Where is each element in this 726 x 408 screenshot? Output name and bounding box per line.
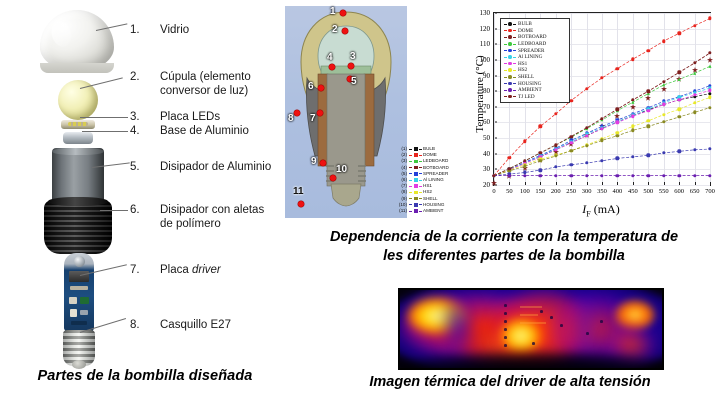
chart-data-marker <box>708 96 711 99</box>
part-label-8: Casquillo E27 <box>160 318 231 332</box>
chart-legend-row: TJ LED <box>504 94 566 101</box>
chart-x-tick-label: 700 <box>705 188 715 195</box>
part-number-6: 6. <box>130 203 152 217</box>
chart-legend-marker-icon <box>504 61 516 67</box>
chart-y-tick-label: 80 <box>483 87 490 95</box>
chart-legend-label: SHELL <box>518 74 534 80</box>
chart-legend-label: HS1 <box>518 61 527 67</box>
chart-legend: BULBDOMEBOTBOARDLEDBOARDSPREADERAl LININ… <box>500 18 570 103</box>
chart-legend-row: HS2 <box>504 67 566 74</box>
chart-y-tick-label: 50 <box>483 134 490 142</box>
chart-y-tick-label: 20 <box>483 181 490 189</box>
chart-legend-row: AMBIENT <box>504 87 566 94</box>
measurement-point-label-4: 4 <box>327 52 333 63</box>
measurement-point-label-7: 7 <box>310 113 316 124</box>
leader-line-6 <box>100 210 128 211</box>
cross-section-legend-label: AMBIENT <box>423 208 443 214</box>
part-label-7: Placa driver <box>160 263 221 277</box>
measurement-point-label-8: 8 <box>288 113 294 124</box>
chart-x-tick-label: 650 <box>690 188 700 195</box>
measurement-point-label-3: 3 <box>350 51 356 62</box>
measurement-point-label-2: 2 <box>332 24 338 35</box>
chart-gridline-h <box>494 185 710 186</box>
chart-x-tick-mark <box>710 182 711 185</box>
chart-plot-area: BULBDOMEBOTBOARDLEDBOARDSPREADERAl LININ… <box>493 12 711 186</box>
measurement-point-9 <box>320 160 326 166</box>
chart-x-tick-label: 0 <box>492 188 495 195</box>
part-number-4: 4. <box>130 124 152 138</box>
chart-legend-label: BULB <box>518 21 532 27</box>
part-label-4: Base de Aluminio <box>160 124 249 138</box>
chart-y-tick-label: 30 <box>483 165 490 173</box>
chart-y-tick-label: 40 <box>483 150 490 158</box>
chart-y-tick-label: 120 <box>480 25 491 33</box>
part-label-6: Disipador con aletas <box>160 203 264 217</box>
chart-legend-marker-icon <box>504 41 516 47</box>
exploded-bulb-panel: 1. Vidrio 2. Cúpula (elemento conversor … <box>0 0 282 358</box>
part-number-2: 2. <box>130 70 152 84</box>
measurement-point-11 <box>298 201 304 207</box>
measurement-point-label-11: 11 <box>293 186 304 197</box>
chart-legend-marker-icon <box>504 67 516 73</box>
part-label-2-line2: conversor de luz) <box>160 84 248 98</box>
chart-x-tick-label: 600 <box>674 188 684 195</box>
measurement-point-7 <box>317 110 323 116</box>
chart-x-tick-label: 550 <box>659 188 669 195</box>
chart-data-marker <box>708 106 711 109</box>
measurement-point-8 <box>294 110 300 116</box>
chart-x-tick-label: 200 <box>551 188 561 195</box>
chart-legend-marker-icon <box>504 74 516 80</box>
part-aluminium-base <box>63 132 93 144</box>
middle-caption-line2: les diferentes partes de la bombilla <box>282 247 726 266</box>
part-glass-rim <box>40 63 114 73</box>
chart-legend-marker-icon <box>504 87 516 93</box>
cross-section-legend-marker-icon <box>409 147 422 152</box>
chart-y-tick-label: 60 <box>483 118 490 126</box>
part-led-board <box>61 120 95 129</box>
chart-y-tick-label: 130 <box>480 9 491 17</box>
chart-legend-marker-icon <box>504 94 516 100</box>
bulb-cross-section-panel: 1 2 3 4 5 6 7 8 9 10 11 <box>285 6 407 218</box>
bulb-parts-illustration <box>18 8 138 348</box>
left-caption: Partes de la bombilla diseñada <box>10 368 280 384</box>
part-label-2: Cúpula (elemento <box>160 70 251 84</box>
cross-section-legend-index: (11) <box>392 208 408 214</box>
temperature-current-chart: Temperature (°C) IF (mA) BULBDOMEBOTBOAR… <box>461 4 723 222</box>
cross-section-legend-marker-icon <box>409 202 422 207</box>
chart-x-axis-label: IF (mA) <box>521 202 681 218</box>
chart-legend-row: HS1 <box>504 61 566 68</box>
chart-x-tick-label: 300 <box>582 188 592 195</box>
chart-y-tick-label: 100 <box>480 56 491 64</box>
part-number-1: 1. <box>130 23 152 37</box>
chart-legend-marker-icon <box>504 21 516 27</box>
chart-legend-label: DOME <box>518 28 533 34</box>
chart-legend-row: BULB <box>504 21 566 28</box>
chart-x-tick-label: 50 <box>506 188 513 195</box>
chart-x-tick-label: 450 <box>628 188 638 195</box>
chart-legend-row: SPREADER <box>504 47 566 54</box>
leader-line-4 <box>82 131 128 132</box>
thermal-image <box>400 290 662 368</box>
middle-caption-line1: Dependencia de la corriente con la tempe… <box>282 228 726 247</box>
chart-legend-marker-icon <box>504 34 516 40</box>
part-number-8: 8. <box>130 318 152 332</box>
chart-legend-marker-icon <box>504 48 516 54</box>
measurement-point-10 <box>330 175 336 181</box>
chart-data-marker <box>708 89 711 92</box>
chart-legend-marker-icon <box>504 54 516 60</box>
chart-y-tick-label: 70 <box>483 103 490 111</box>
cross-section-legend-marker-icon <box>409 190 422 195</box>
measurement-point-label-1: 1 <box>330 6 336 17</box>
cross-section-legend-marker-icon <box>409 184 422 189</box>
chart-legend-marker-icon <box>504 81 516 87</box>
measurement-point-label-6: 6 <box>308 81 314 92</box>
measurement-point-label-9: 9 <box>311 156 317 167</box>
chart-legend-row: BOTBOARD <box>504 34 566 41</box>
cross-section-legend-row: (11)AMBIENT <box>392 208 464 214</box>
chart-legend-label: BOTBOARD <box>518 34 547 40</box>
chart-data-marker <box>708 92 711 95</box>
chart-legend-label: Al LINING <box>518 54 542 60</box>
chart-legend-label: SPREADER <box>518 48 545 54</box>
cross-section-legend-marker-icon <box>409 159 422 164</box>
chart-x-axis-unit: (mA) <box>591 202 620 216</box>
thermal-caption: Imagen térmica del driver de alta tensió… <box>300 374 720 390</box>
chart-legend-label: HS2 <box>518 67 527 73</box>
chart-legend-label: HOUSING <box>518 81 541 87</box>
cross-section-legend: (1)BULB(2)DOME(3)LEDBOARD(4)BOTBOARD(5)S… <box>392 146 464 216</box>
middle-caption: Dependencia de la corriente con la tempe… <box>282 228 726 266</box>
chart-data-marker <box>708 174 711 177</box>
measurement-point-label-10: 10 <box>336 164 347 175</box>
cross-section-legend-marker-icon <box>409 196 422 201</box>
cross-section-legend-marker-icon <box>409 153 422 158</box>
chart-x-tick-label: 100 <box>520 188 530 195</box>
cross-section-legend-marker-icon <box>409 178 422 183</box>
cross-section-legend-marker-icon <box>409 209 422 214</box>
cross-section-legend-marker-icon <box>409 165 422 170</box>
measurement-point-4 <box>329 64 335 70</box>
chart-x-tick-label: 350 <box>597 188 607 195</box>
measurement-point-1 <box>340 10 346 16</box>
part-driver-board <box>64 253 94 331</box>
part-label-7-italic: driver <box>192 264 221 276</box>
cross-section-legend-marker-icon <box>409 171 422 176</box>
chart-x-tick-label: 400 <box>613 188 623 195</box>
chart-legend-label: LEDBOARD <box>518 41 546 47</box>
measurement-point-6 <box>318 85 324 91</box>
chart-legend-row: Al LINING <box>504 54 566 61</box>
chart-legend-label: TJ LED <box>518 94 535 100</box>
chart-legend-row: HOUSING <box>504 80 566 87</box>
measurement-point-label-5: 5 <box>351 76 357 87</box>
part-aluminium-heatsink <box>52 148 104 202</box>
part-number-5: 5. <box>130 160 152 174</box>
part-number-7: 7. <box>130 263 152 277</box>
chart-gridline-v <box>710 13 711 185</box>
measurement-point-3 <box>348 63 354 69</box>
chart-legend-row: LEDBOARD <box>504 41 566 48</box>
part-label-7-text: Placa <box>160 264 192 276</box>
part-polymer-finned-heatsink <box>44 200 112 254</box>
chart-x-tick-label: 150 <box>535 188 545 195</box>
chart-legend-row: SHELL <box>504 74 566 81</box>
thermal-image-frame <box>398 288 664 370</box>
part-label-5: Disipador de Aluminio <box>160 160 271 174</box>
leader-line-3 <box>80 117 128 118</box>
chart-legend-label: AMBIENT <box>518 87 542 93</box>
chart-x-tick-label: 500 <box>643 188 653 195</box>
part-e27-cap <box>63 330 95 366</box>
chart-legend-marker-icon <box>504 28 516 34</box>
measurement-point-2 <box>342 28 348 34</box>
chart-legend-row: DOME <box>504 28 566 35</box>
chart-data-marker <box>708 147 711 150</box>
chart-y-tick-label: 90 <box>483 72 490 80</box>
part-label-1: Vidrio <box>160 23 189 37</box>
part-glass-dome <box>40 10 114 70</box>
part-number-3: 3. <box>130 110 152 124</box>
part-label-3: Placa LEDs <box>160 110 220 124</box>
part-label-6-line2: de polímero <box>160 217 221 231</box>
chart-x-tick-label: 250 <box>566 188 576 195</box>
chart-y-tick-label: 110 <box>480 40 490 48</box>
chart-data-marker <box>708 17 711 20</box>
